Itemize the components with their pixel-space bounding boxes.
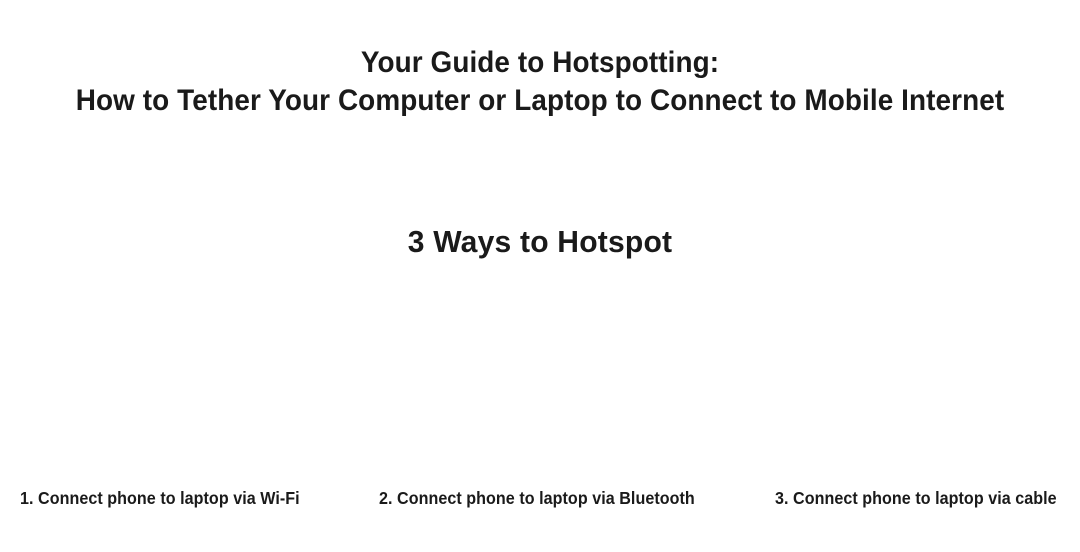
page-title-line-1: Your Guide to Hotspotting: (38, 44, 1042, 82)
step-caption-cable: 3. Connect phone to laptop via cable (775, 487, 1057, 509)
caption-row: 1. Connect phone to laptop via Wi-Fi 2. … (0, 487, 1080, 513)
step-caption-wifi: 1. Connect phone to laptop via Wi-Fi (20, 487, 300, 509)
page-title: Your Guide to Hotspotting: How to Tether… (0, 44, 1080, 120)
illustration-slot-cable (720, 272, 1080, 478)
infographic-page: Your Guide to Hotspotting: How to Tether… (0, 0, 1080, 552)
illustration-slot-wifi (0, 272, 360, 478)
section-heading: 3 Ways to Hotspot (16, 224, 1064, 260)
illustration-slot-bluetooth (360, 272, 720, 478)
illustration-band (0, 272, 1080, 478)
step-caption-bluetooth: 2. Connect phone to laptop via Bluetooth (379, 487, 695, 509)
page-title-line-2: How to Tether Your Computer or Laptop to… (38, 82, 1042, 120)
